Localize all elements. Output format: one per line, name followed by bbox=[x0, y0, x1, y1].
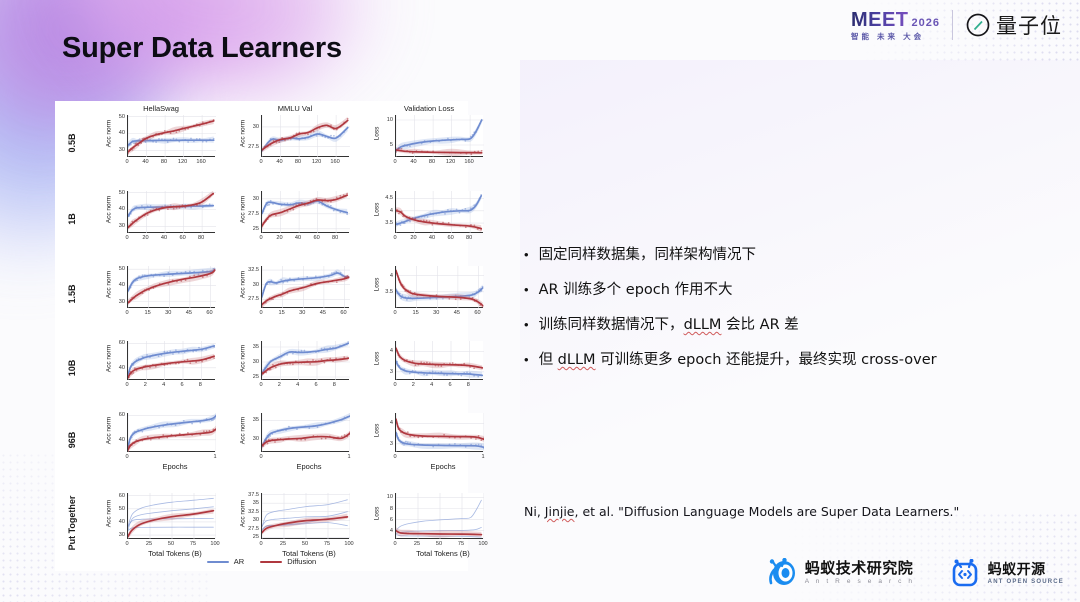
plot-area bbox=[261, 493, 349, 539]
row-label-put-together: Put Together bbox=[67, 490, 77, 556]
x-tick: 60 bbox=[200, 310, 220, 316]
chart-cell-96b-hellaswag: Acc norm406001Epochs bbox=[107, 413, 215, 468]
x-tick: 20 bbox=[270, 235, 290, 241]
bullet-item-3: •但 dLLM 可训练更多 epoch 还能提升，最终实现 cross-over bbox=[524, 351, 1024, 369]
x-tick: 50 bbox=[295, 541, 315, 547]
plot-area bbox=[261, 341, 349, 380]
plot-area bbox=[395, 413, 483, 452]
row-label-1-5b: 1.5B bbox=[67, 279, 77, 309]
y-tick: 10 bbox=[369, 117, 393, 123]
y-tick: 27.5 bbox=[235, 526, 259, 532]
legend-swatch bbox=[207, 561, 229, 563]
x-tick: 60 bbox=[307, 235, 327, 241]
x-tick: 0 bbox=[385, 159, 405, 165]
x-tick: 40 bbox=[136, 159, 156, 165]
y-tick: 40 bbox=[101, 519, 125, 525]
page-title: Super Data Learners bbox=[62, 32, 342, 65]
plot-area bbox=[127, 191, 215, 233]
y-tick: 5 bbox=[369, 142, 393, 148]
chart-cell-0-5b-validation-loss: Validation LossLoss51004080120160 bbox=[375, 115, 483, 173]
y-tick: 40 bbox=[101, 437, 125, 443]
y-tick: 30 bbox=[101, 532, 125, 538]
chart-cell-0-5b-mmlu-val: MMLU ValAcc norm27.53004080120160 bbox=[241, 115, 349, 173]
x-tick: 0 bbox=[117, 382, 137, 388]
x-tick: 80 bbox=[288, 159, 308, 165]
chart-legend: ARDiffusion bbox=[55, 557, 468, 566]
x-tick: 15 bbox=[272, 310, 292, 316]
y-axis-label: Acc norm bbox=[106, 494, 113, 534]
x-tick: 45 bbox=[179, 310, 199, 316]
x-tick: 1 bbox=[205, 454, 225, 460]
x-tick: 1 bbox=[339, 454, 359, 460]
x-tick: 0 bbox=[117, 159, 137, 165]
y-tick: 27.5 bbox=[235, 296, 259, 302]
chart-cell-put-together-mmlu-val: Acc norm2527.53032.53537.50255075100Tota… bbox=[241, 493, 349, 555]
y-tick: 60 bbox=[101, 340, 125, 346]
x-tick: 2 bbox=[135, 382, 155, 388]
x-tick: 45 bbox=[313, 310, 333, 316]
x-tick: 0 bbox=[117, 235, 137, 241]
x-tick: 20 bbox=[136, 235, 156, 241]
y-tick: 4 bbox=[369, 528, 393, 534]
chart-cell-10b-hellaswag: Acc norm406002468 bbox=[107, 341, 215, 396]
x-tick: 60 bbox=[334, 310, 354, 316]
x-tick: 40 bbox=[288, 235, 308, 241]
chart-cell-put-together-hellaswag: Acc norm304050600255075100Total Tokens (… bbox=[107, 493, 215, 555]
bullet-marker-icon: • bbox=[524, 281, 529, 298]
x-tick: 0 bbox=[251, 454, 271, 460]
chart-cell-10b-mmlu-val: Acc norm25303502468 bbox=[241, 341, 349, 396]
x-tick: 1 bbox=[473, 454, 493, 460]
x-tick: 4 bbox=[422, 382, 442, 388]
y-tick: 35 bbox=[235, 500, 259, 506]
bullet-text: 训练同样数据情况下，dLLM 会比 AR 差 bbox=[539, 316, 799, 334]
y-tick: 50 bbox=[101, 266, 125, 272]
x-tick: 40 bbox=[270, 159, 290, 165]
y-tick: 50 bbox=[101, 190, 125, 196]
qbit-wordmark: 量子位 bbox=[996, 10, 1062, 40]
ant-open-source-logo: 蚂蚁开源 ANT OPEN SOURCE bbox=[949, 559, 1064, 587]
plot-area bbox=[395, 191, 483, 233]
y-tick: 27.5 bbox=[235, 211, 259, 217]
plot-area bbox=[395, 266, 483, 308]
x-tick: 4 bbox=[288, 382, 308, 388]
x-tick: 30 bbox=[158, 310, 178, 316]
logo-divider bbox=[952, 10, 953, 40]
chart-cell-1b-hellaswag: Acc norm304050020406080 bbox=[107, 191, 215, 249]
chart-cell-1-5b-validation-loss: Loss3.54015304560 bbox=[375, 266, 483, 324]
x-tick: 80 bbox=[154, 159, 174, 165]
x-tick: 50 bbox=[429, 541, 449, 547]
x-tick: 60 bbox=[441, 235, 461, 241]
meet-wordmark: MEET bbox=[851, 10, 909, 30]
x-tick: 100 bbox=[473, 541, 493, 547]
x-tick: 120 bbox=[441, 159, 461, 165]
chart-cell-1-5b-hellaswag: Acc norm304050015304560 bbox=[107, 266, 215, 324]
x-tick: 40 bbox=[422, 235, 442, 241]
x-tick: 45 bbox=[447, 310, 467, 316]
x-tick: 80 bbox=[191, 235, 211, 241]
chart-cell-1b-validation-loss: Loss3.544.5020406080 bbox=[375, 191, 483, 249]
plot-area bbox=[127, 413, 215, 452]
legend-item-diffusion: Diffusion bbox=[260, 557, 316, 566]
x-tick: 75 bbox=[451, 541, 471, 547]
plot-area bbox=[261, 266, 349, 308]
x-tick: 100 bbox=[339, 541, 359, 547]
y-tick: 25 bbox=[235, 534, 259, 540]
x-tick: 160 bbox=[459, 159, 479, 165]
y-tick: 30 bbox=[235, 196, 259, 202]
x-tick: 2 bbox=[403, 382, 423, 388]
y-tick: 30 bbox=[235, 124, 259, 130]
qbit-logo: 量子位 bbox=[965, 10, 1062, 40]
y-tick: 3.5 bbox=[369, 289, 393, 295]
bullet-marker-icon: • bbox=[524, 246, 529, 263]
figure-panel: 0.5B1B1.5B10B96BPut TogetherHellaSwagAcc… bbox=[55, 101, 468, 571]
footer-logo-group: 蚂蚁技术研究院 A n t R e s e a r c h 蚂蚁开源 ANT O… bbox=[764, 558, 1064, 588]
x-tick: 15 bbox=[406, 310, 426, 316]
ant-research-logo: 蚂蚁技术研究院 A n t R e s e a r c h bbox=[764, 558, 915, 588]
y-tick: 4.5 bbox=[369, 195, 393, 201]
x-tick: 60 bbox=[468, 310, 488, 316]
plot-area bbox=[395, 115, 483, 157]
x-tick: 40 bbox=[404, 159, 424, 165]
y-tick: 4 bbox=[369, 208, 393, 214]
y-tick: 40 bbox=[101, 365, 125, 371]
plot-area bbox=[127, 341, 215, 380]
y-tick: 40 bbox=[101, 282, 125, 288]
x-tick: 2 bbox=[269, 382, 289, 388]
chart-cell-1-5b-mmlu-val: Acc norm27.53032.5015304560 bbox=[241, 266, 349, 324]
legend-swatch bbox=[260, 561, 282, 563]
x-tick: 0 bbox=[251, 310, 271, 316]
bullet-list: •固定同样数据集，同样架构情况下•AR 训练多个 epoch 作用不大•训练同样… bbox=[524, 246, 1024, 386]
chart-cell-10b-validation-loss: Loss3402468 bbox=[375, 341, 483, 396]
x-tick: 30 bbox=[426, 310, 446, 316]
x-tick: 0 bbox=[117, 541, 137, 547]
y-tick: 50 bbox=[101, 114, 125, 120]
bullet-item-1: •AR 训练多个 epoch 作用不大 bbox=[524, 281, 1024, 299]
x-tick: 120 bbox=[173, 159, 193, 165]
legend-label: AR bbox=[234, 557, 244, 566]
header-logo-group: MEET 2026 智能 未来 大会 量子位 bbox=[851, 10, 1062, 41]
plot-area bbox=[261, 191, 349, 233]
x-tick: 100 bbox=[205, 541, 225, 547]
x-tick: 4 bbox=[154, 382, 174, 388]
meet-2026-logo: MEET 2026 智能 未来 大会 bbox=[851, 10, 940, 41]
x-tick: 0 bbox=[251, 235, 271, 241]
x-tick: 75 bbox=[183, 541, 203, 547]
x-axis-label: Epochs bbox=[255, 462, 363, 471]
column-title-2: Validation Loss bbox=[375, 104, 483, 113]
chart-cell-put-together-validation-loss: Loss468100255075100Total Tokens (B) bbox=[375, 493, 483, 555]
plot-area bbox=[395, 493, 483, 539]
y-tick: 6 bbox=[369, 517, 393, 523]
y-tick: 40 bbox=[101, 206, 125, 212]
y-tick: 25 bbox=[235, 226, 259, 232]
meet-subtitle: 智能 未来 大会 bbox=[851, 33, 924, 41]
bullet-item-0: •固定同样数据集，同样架构情况下 bbox=[524, 246, 1024, 264]
x-tick: 8 bbox=[324, 382, 344, 388]
x-tick: 6 bbox=[440, 382, 460, 388]
chart-cell-96b-mmlu-val: Acc norm303501Epochs bbox=[241, 413, 349, 468]
y-tick: 8 bbox=[369, 506, 393, 512]
plot-area bbox=[261, 413, 349, 452]
x-tick: 75 bbox=[317, 541, 337, 547]
x-tick: 0 bbox=[385, 235, 405, 241]
y-tick: 35 bbox=[235, 417, 259, 423]
y-tick: 10 bbox=[369, 494, 393, 500]
x-tick: 25 bbox=[273, 541, 293, 547]
x-tick: 6 bbox=[306, 382, 326, 388]
bullet-marker-icon: • bbox=[524, 351, 529, 368]
y-tick: 30 bbox=[235, 436, 259, 442]
ant-research-cn: 蚂蚁技术研究院 bbox=[805, 561, 915, 576]
plot-area bbox=[127, 115, 215, 157]
legend-label: Diffusion bbox=[287, 557, 316, 566]
x-tick: 6 bbox=[172, 382, 192, 388]
y-tick: 30 bbox=[101, 223, 125, 229]
dot-pattern-bottom-right bbox=[750, 512, 1080, 602]
y-axis-label: Acc norm bbox=[240, 410, 247, 450]
x-axis-label: Epochs bbox=[389, 462, 497, 471]
row-label-0-5b: 0.5B bbox=[67, 128, 77, 158]
y-tick: 32.5 bbox=[235, 267, 259, 273]
x-tick: 0 bbox=[251, 382, 271, 388]
y-tick: 3.5 bbox=[369, 220, 393, 226]
y-tick: 4 bbox=[369, 273, 393, 279]
x-tick: 0 bbox=[251, 159, 271, 165]
y-axis-label: Loss bbox=[374, 265, 381, 305]
plot-area bbox=[127, 493, 215, 539]
y-tick: 27.5 bbox=[235, 144, 259, 150]
y-tick: 3 bbox=[369, 369, 393, 375]
bullet-item-2: •训练同样数据情况下，dLLM 会比 AR 差 bbox=[524, 316, 1024, 334]
x-tick: 80 bbox=[325, 235, 345, 241]
y-tick: 4 bbox=[369, 420, 393, 426]
y-tick: 30 bbox=[101, 147, 125, 153]
x-tick: 120 bbox=[307, 159, 327, 165]
bullet-text: 但 dLLM 可训练更多 epoch 还能提升，最终实现 cross-over bbox=[539, 351, 937, 369]
ant-research-icon bbox=[764, 558, 798, 588]
x-tick: 0 bbox=[385, 541, 405, 547]
x-tick: 0 bbox=[117, 310, 137, 316]
y-tick: 30 bbox=[235, 282, 259, 288]
x-tick: 0 bbox=[251, 541, 271, 547]
y-tick: 60 bbox=[101, 493, 125, 499]
chart-cell-96b-validation-loss: Loss3401Epochs bbox=[375, 413, 483, 468]
ant-open-source-icon bbox=[949, 559, 981, 587]
chart-cell-0-5b-hellaswag: HellaSwagAcc norm30405004080120160 bbox=[107, 115, 215, 173]
y-tick: 30 bbox=[101, 299, 125, 305]
y-tick: 37.5 bbox=[235, 492, 259, 498]
x-tick: 60 bbox=[173, 235, 193, 241]
plot-area bbox=[261, 115, 349, 157]
bullet-marker-icon: • bbox=[524, 316, 529, 333]
y-tick: 50 bbox=[101, 506, 125, 512]
y-tick: 40 bbox=[101, 130, 125, 136]
meet-year: 2026 bbox=[912, 18, 940, 29]
x-tick: 0 bbox=[385, 454, 405, 460]
x-tick: 8 bbox=[190, 382, 210, 388]
x-tick: 30 bbox=[292, 310, 312, 316]
x-tick: 15 bbox=[138, 310, 158, 316]
y-tick: 30 bbox=[235, 359, 259, 365]
x-tick: 80 bbox=[422, 159, 442, 165]
bullet-text: AR 训练多个 epoch 作用不大 bbox=[539, 281, 733, 299]
legend-item-ar: AR bbox=[207, 557, 244, 566]
y-tick: 32.5 bbox=[235, 509, 259, 515]
column-title-0: HellaSwag bbox=[107, 104, 215, 113]
plot-area bbox=[127, 266, 215, 308]
x-tick: 50 bbox=[161, 541, 181, 547]
y-tick: 30 bbox=[235, 517, 259, 523]
x-tick: 0 bbox=[385, 310, 405, 316]
citation-text: Ni, Jinjie, et al. "Diffusion Language M… bbox=[524, 504, 1024, 519]
column-title-1: MMLU Val bbox=[241, 104, 349, 113]
y-tick: 25 bbox=[235, 374, 259, 380]
x-tick: 160 bbox=[191, 159, 211, 165]
ant-open-source-en: ANT OPEN SOURCE bbox=[988, 579, 1064, 585]
x-tick: 20 bbox=[404, 235, 424, 241]
x-tick: 40 bbox=[154, 235, 174, 241]
qbit-circle-icon bbox=[965, 12, 991, 38]
x-tick: 0 bbox=[117, 454, 137, 460]
plot-area bbox=[395, 341, 483, 380]
y-tick: 4 bbox=[369, 348, 393, 354]
ant-research-en: A n t R e s e a r c h bbox=[805, 579, 915, 586]
x-tick: 160 bbox=[325, 159, 345, 165]
y-tick: 60 bbox=[101, 412, 125, 418]
chart-cell-1b-mmlu-val: Acc norm2527.530020406080 bbox=[241, 191, 349, 249]
x-axis-label: Epochs bbox=[121, 462, 229, 471]
y-tick: 35 bbox=[235, 344, 259, 350]
row-label-96b: 96B bbox=[67, 425, 77, 455]
row-label-1b: 1B bbox=[67, 204, 77, 234]
x-tick: 80 bbox=[459, 235, 479, 241]
x-tick: 0 bbox=[385, 382, 405, 388]
x-tick: 25 bbox=[139, 541, 159, 547]
bullet-text: 固定同样数据集，同样架构情况下 bbox=[539, 246, 757, 264]
chart-grid: 0.5B1B1.5B10B96BPut TogetherHellaSwagAcc… bbox=[55, 101, 468, 571]
x-tick: 25 bbox=[407, 541, 427, 547]
y-tick: 3 bbox=[369, 441, 393, 447]
row-label-10b: 10B bbox=[67, 353, 77, 383]
x-tick: 8 bbox=[458, 382, 478, 388]
ant-open-source-cn: 蚂蚁开源 bbox=[988, 562, 1064, 576]
